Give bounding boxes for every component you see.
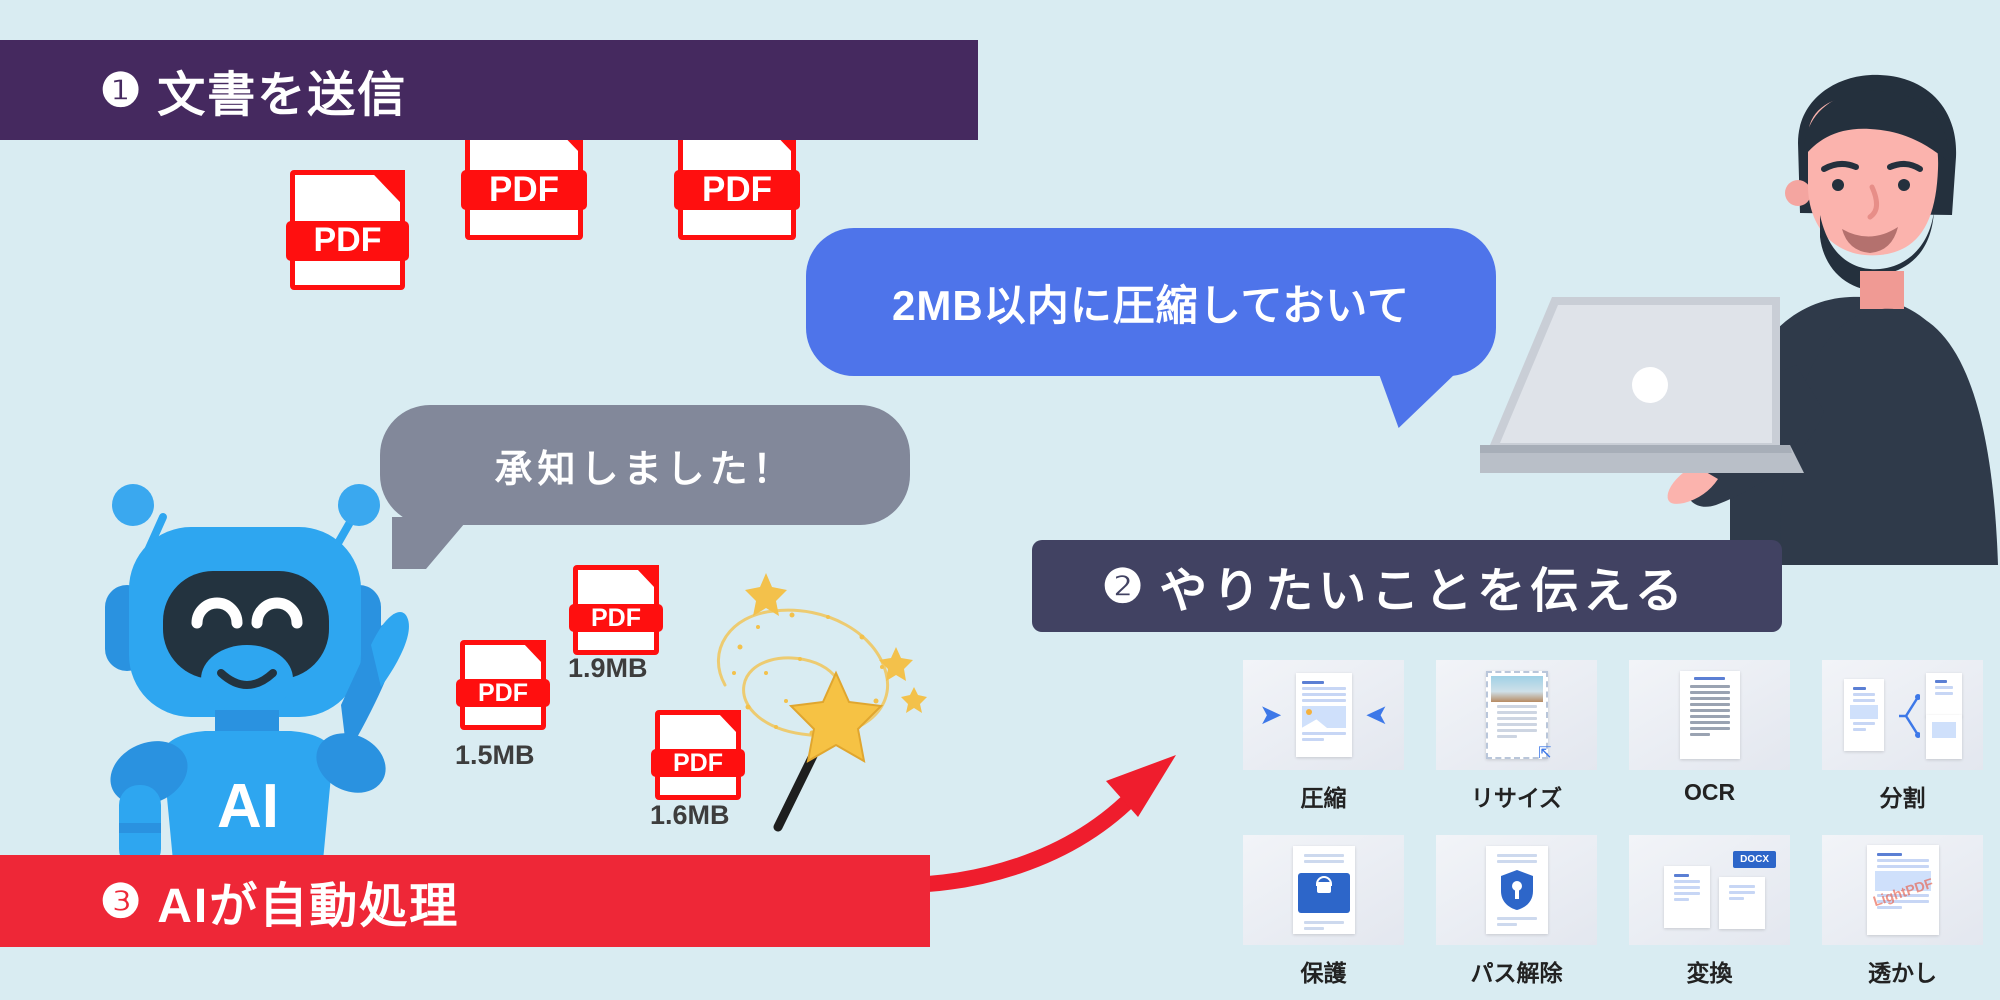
- step-banner-2: ❷ やりたいことを伝える: [1032, 540, 1782, 632]
- bot-speech-bubble: 承知しました！: [380, 405, 910, 525]
- pdf-label: PDF: [569, 604, 663, 633]
- step-3-number: ❸: [100, 878, 141, 924]
- pdf-label: PDF: [674, 170, 800, 210]
- tool-card-watermark[interactable]: LightPDF 透かし: [1822, 835, 1983, 988]
- tool-card-convert[interactable]: DOCX 変換: [1629, 835, 1790, 988]
- pdf-size-label-1: 1.5MB: [455, 740, 535, 771]
- tool-label-protect: 保護: [1243, 954, 1404, 988]
- resize-handle-icon: ⇱: [1538, 743, 1551, 763]
- pdf-label: PDF: [651, 749, 745, 778]
- tool-card-compress[interactable]: ➤ ➤ 圧縮: [1243, 660, 1404, 813]
- user-speech-text: 2MB以内に圧縮しておいて: [892, 272, 1410, 333]
- step-1-label: 文書を送信: [157, 55, 407, 125]
- arrow-left-icon: ➤: [1365, 701, 1388, 729]
- step-2-number: ❷: [1102, 563, 1143, 609]
- tool-label-unlock: パス解除: [1436, 954, 1597, 988]
- tool-card-unlock[interactable]: パス解除: [1436, 835, 1597, 988]
- tool-card-resize[interactable]: ⇱ リサイズ: [1436, 660, 1597, 813]
- step-banner-3: ❸ AIが自動処理: [0, 855, 930, 947]
- tool-label-watermark: 透かし: [1822, 954, 1983, 988]
- step-1-number: ❶: [100, 67, 141, 113]
- ocr-document-icon: [1629, 660, 1790, 770]
- step-2-label: やりたいことを伝える: [1159, 551, 1688, 621]
- split-document-icon: [1822, 660, 1983, 770]
- tool-label-ocr: OCR: [1629, 779, 1790, 806]
- pdf-size-label-2: 1.9MB: [568, 653, 648, 684]
- resize-document-icon: ⇱: [1436, 660, 1597, 770]
- infographic-canvas: ❶ 文書を送信 PDF PDF PDF 2MB以内に圧縮しておいて 承知しました…: [0, 0, 2000, 1000]
- pdf-icon-processed-2: PDF: [573, 565, 659, 655]
- pdf-label: PDF: [456, 679, 550, 708]
- pdf-icon-processed-1: PDF: [460, 640, 546, 730]
- tool-card-protect[interactable]: 保護: [1243, 835, 1404, 988]
- tool-label-split: 分割: [1822, 779, 1983, 813]
- speech-bubble-tail: [392, 517, 470, 569]
- ai-robot-mascot: AI: [85, 455, 415, 875]
- tool-label-compress: 圧縮: [1243, 779, 1404, 813]
- pdf-icon-incoming-1: PDF: [290, 170, 405, 290]
- convert-docx-icon: DOCX: [1629, 835, 1790, 945]
- lock-document-icon: [1243, 835, 1404, 945]
- bot-speech-text: 承知しました！: [494, 438, 795, 493]
- tool-label-convert: 変換: [1629, 954, 1790, 988]
- robot-ai-badge: AI: [217, 772, 279, 841]
- watermark-document-icon: LightPDF: [1822, 835, 1983, 945]
- arrow-right-icon: ➤: [1259, 701, 1282, 729]
- split-branch-icon: [1898, 691, 1920, 741]
- person-with-laptop-illustration: [1480, 65, 2000, 565]
- unlock-shield-icon: [1436, 835, 1597, 945]
- pdf-icon-processed-3: PDF: [655, 710, 741, 800]
- docx-badge: DOCX: [1733, 851, 1776, 868]
- speech-bubble-tail: [1369, 364, 1466, 428]
- pdf-label: PDF: [461, 170, 587, 210]
- pdf-size-label-3: 1.6MB: [650, 800, 730, 831]
- step-3-label: AIが自動処理: [157, 866, 459, 936]
- pdf-label: PDF: [286, 221, 409, 261]
- user-speech-bubble: 2MB以内に圧縮しておいて: [806, 228, 1496, 376]
- tool-grid: ➤ ➤ 圧縮 ⇱ リサイズ: [1243, 660, 1983, 988]
- tool-card-split[interactable]: 分割: [1822, 660, 1983, 813]
- tool-card-ocr[interactable]: OCR: [1629, 660, 1790, 813]
- compress-document-icon: ➤ ➤: [1243, 660, 1404, 770]
- tool-label-resize: リサイズ: [1436, 779, 1597, 813]
- step-banner-1: ❶ 文書を送信: [0, 40, 978, 140]
